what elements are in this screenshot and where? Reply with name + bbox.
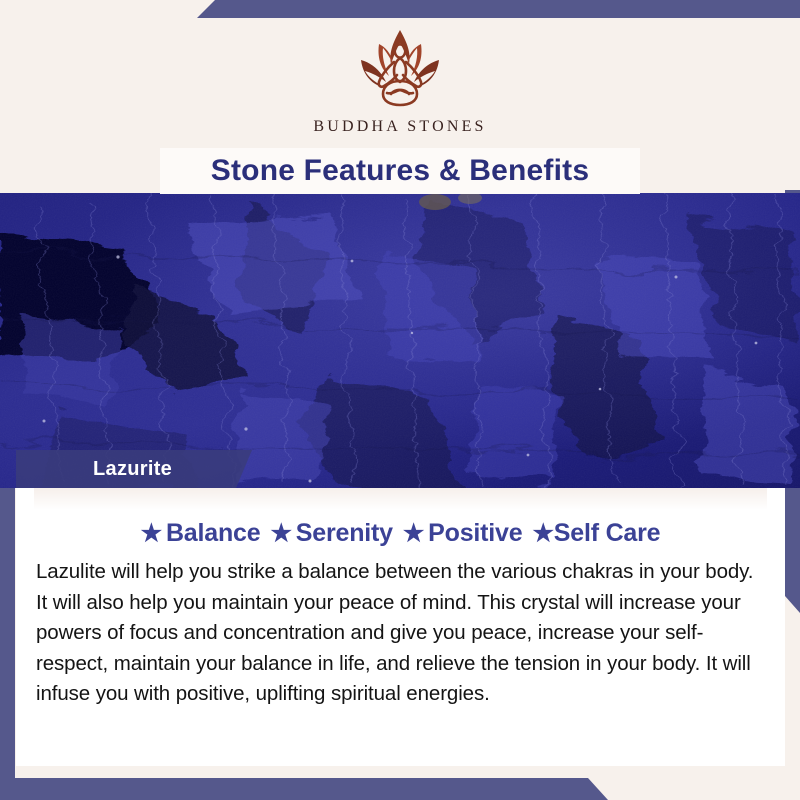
page-title: Stone Features & Benefits (211, 154, 589, 188)
benefit-label: Serenity (296, 519, 393, 547)
left-accent-strip (0, 486, 15, 782)
star-icon: ★ (532, 520, 553, 547)
stone-benefits-infographic: BUDDHA STONES Stone Features & Benefits (0, 0, 800, 800)
benefit-item-balance: ★Balance (141, 519, 261, 548)
stone-photo: Lazurite (0, 193, 800, 488)
star-icon: ★ (403, 520, 428, 547)
benefits-row: ★Balance★Serenity★Positive★Self Care (34, 488, 767, 548)
content-panel: ★Balance★Serenity★Positive★Self Care Laz… (16, 488, 785, 766)
benefit-item-self-care: ★Self Care (532, 519, 660, 548)
benefit-item-positive: ★Positive (403, 519, 523, 548)
lotus-meditation-figure-icon (335, 24, 465, 116)
benefit-label: Balance (166, 519, 261, 547)
bottom-accent-bar (0, 778, 800, 800)
stone-name-tag: Lazurite (16, 450, 252, 488)
benefit-item-serenity: ★Serenity (270, 519, 392, 548)
stone-description: Lazulite will help you strike a balance … (34, 557, 767, 710)
title-banner: Stone Features & Benefits (160, 148, 640, 194)
top-accent-bar (0, 0, 800, 18)
stone-name-label: Lazurite (16, 458, 172, 481)
benefit-label: Positive (428, 519, 522, 547)
brand-name: BUDDHA STONES (0, 118, 800, 136)
benefit-label: Self Care (554, 519, 661, 547)
star-icon: ★ (141, 520, 166, 547)
star-icon: ★ (270, 520, 295, 547)
